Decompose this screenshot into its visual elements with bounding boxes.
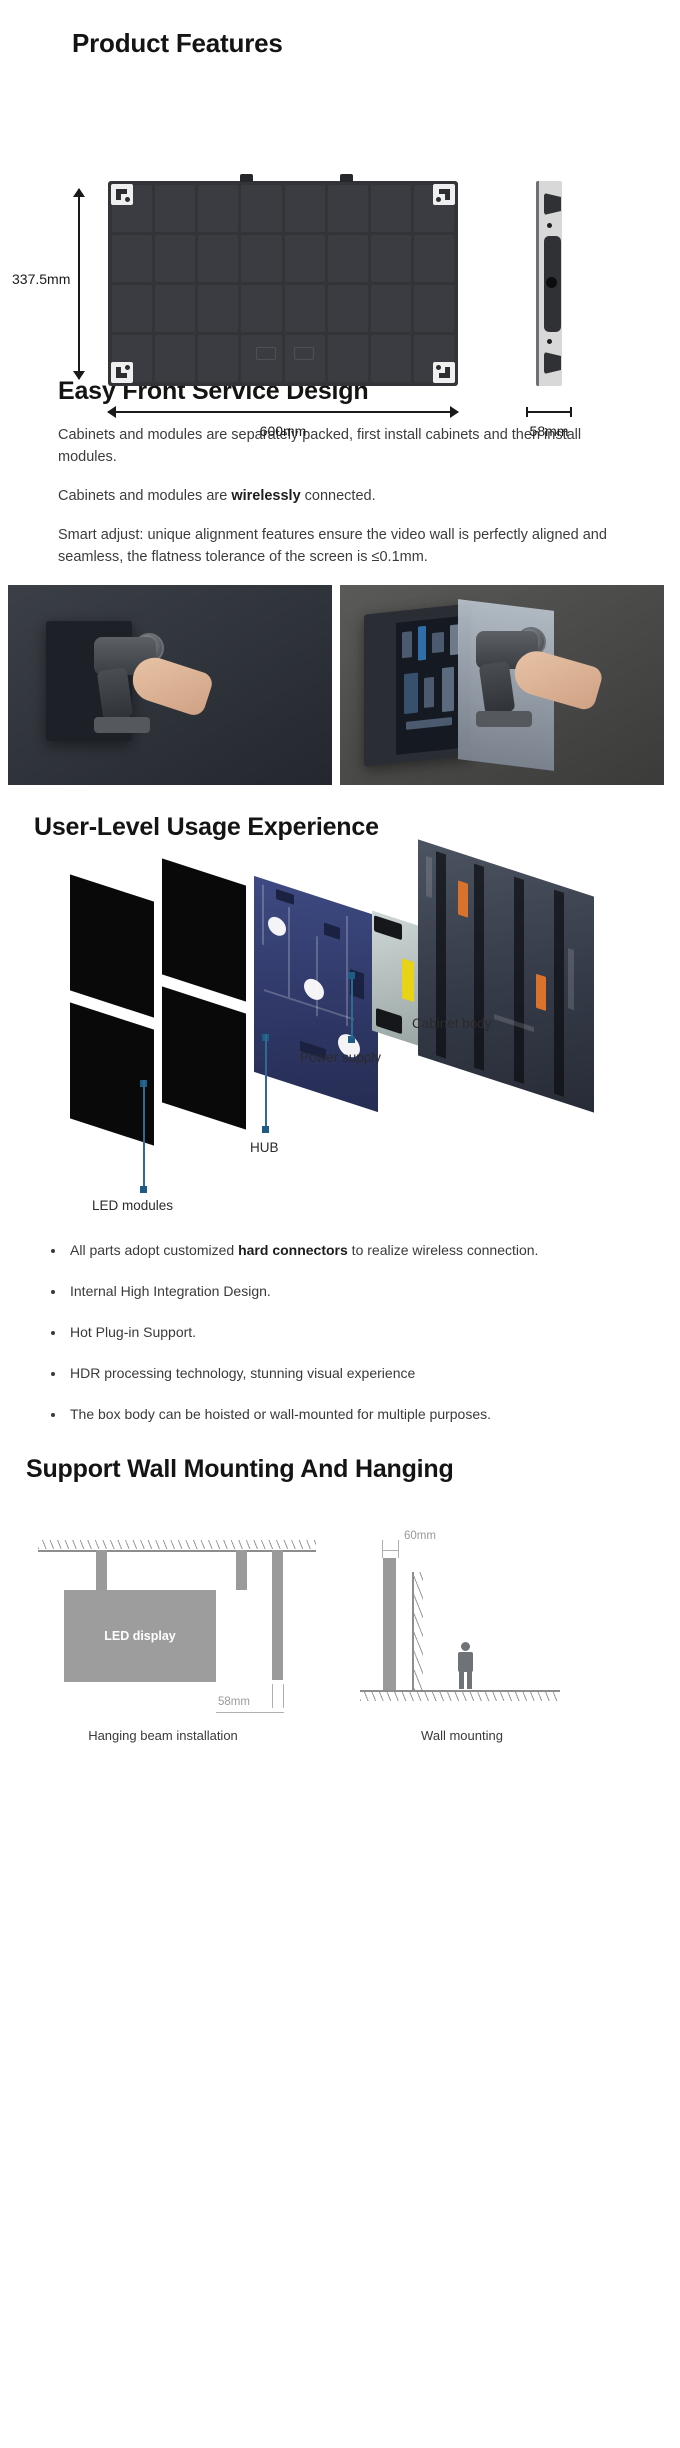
corner-lock-icon bbox=[111, 184, 133, 205]
cabinet-side-view bbox=[536, 181, 562, 386]
callout-line bbox=[143, 1080, 145, 1190]
section-wall-mounting: Support Wall Mounting And Hanging LED di… bbox=[0, 1445, 680, 1772]
photo-front-maintenance-open bbox=[340, 585, 664, 785]
caption-hanging-beam: Hanging beam installation bbox=[48, 1728, 278, 1743]
corner-lock-icon bbox=[433, 184, 455, 205]
side-bracket-icon bbox=[544, 193, 561, 215]
side-bracket-icon bbox=[544, 352, 561, 374]
port-icon bbox=[294, 347, 314, 360]
bullet-text: HDR processing technology, stunning visu… bbox=[70, 1365, 415, 1381]
module-cell bbox=[155, 185, 195, 232]
module-cell bbox=[155, 335, 195, 382]
hub-board bbox=[254, 876, 378, 1112]
hanging-rod bbox=[236, 1550, 247, 1590]
paragraph-text: Smart adjust: unique alignment features … bbox=[58, 527, 607, 565]
corner-lock-icon bbox=[111, 362, 133, 383]
depth-dimension-label: 58mm bbox=[512, 423, 586, 439]
exploded-view-diagram: LED modules HUB Power supply Cabinet bod… bbox=[0, 858, 680, 1218]
bullet-text: Hot Plug-in Support. bbox=[70, 1324, 196, 1340]
module-cell bbox=[198, 285, 238, 332]
top-knob-icon bbox=[340, 174, 353, 182]
side-handle-icon bbox=[546, 277, 557, 288]
callout-node bbox=[348, 972, 355, 979]
module-cell bbox=[198, 335, 238, 382]
feature-bullet-list: All parts adopt customized hard connecto… bbox=[44, 1240, 624, 1425]
led-module bbox=[162, 987, 246, 1130]
section-product-features: Product Features 337.5mm bbox=[0, 0, 680, 371]
ceiling-hatch bbox=[38, 1540, 316, 1549]
list-item: The box body can be hoisted or wall-moun… bbox=[66, 1404, 624, 1425]
corner-lock-icon bbox=[433, 362, 455, 383]
paragraph-text: Cabinets and modules are bbox=[58, 488, 231, 504]
width-dimension-label: 600mm bbox=[108, 423, 458, 439]
person-silhouette bbox=[452, 1642, 478, 1690]
port-icon bbox=[256, 347, 276, 360]
callout-label-cabinet-body: Cabinet body bbox=[412, 1016, 492, 1031]
list-item: Internal High Integration Design. bbox=[66, 1281, 624, 1302]
mounting-diagrams: LED display 58mm Hanging beam installati… bbox=[0, 1506, 680, 1746]
module-cell bbox=[198, 235, 238, 282]
wall-line bbox=[412, 1572, 414, 1690]
led-display-block: LED display bbox=[64, 1590, 216, 1682]
page-title: Product Features bbox=[72, 28, 680, 59]
wall-hatch bbox=[414, 1572, 423, 1690]
module-cell bbox=[371, 235, 411, 282]
paragraph: Smart adjust: unique alignment features … bbox=[58, 524, 618, 568]
module-cell bbox=[285, 185, 325, 232]
callout-node bbox=[262, 1126, 269, 1133]
dim-leader bbox=[283, 1684, 284, 1708]
paragraph-bold: wirelessly bbox=[231, 488, 300, 504]
service-description: Cabinets and modules are separately pack… bbox=[58, 424, 618, 568]
paragraph: Cabinets and modules are wirelessly conn… bbox=[58, 485, 618, 507]
module-cell bbox=[328, 335, 368, 382]
module-cell bbox=[155, 285, 195, 332]
list-item: Hot Plug-in Support. bbox=[66, 1322, 624, 1343]
list-item: All parts adopt customized hard connecto… bbox=[66, 1240, 624, 1261]
service-photos bbox=[0, 585, 680, 785]
cabinet-body bbox=[418, 840, 594, 1113]
led-module bbox=[70, 875, 154, 1018]
floor-hatch bbox=[360, 1692, 560, 1701]
dim-leader bbox=[382, 1550, 399, 1551]
dim-leader bbox=[398, 1540, 399, 1558]
module-cell bbox=[414, 285, 454, 332]
cabinet-front-view bbox=[108, 181, 458, 386]
product-page: Product Features 337.5mm bbox=[0, 0, 680, 1772]
bullet-bold: hard connectors bbox=[238, 1242, 348, 1258]
psu-label bbox=[402, 958, 414, 1002]
callout-label-hub: HUB bbox=[250, 1140, 279, 1155]
tool-base-icon bbox=[476, 711, 532, 727]
module-cell bbox=[328, 185, 368, 232]
beam-depth-dimension: 58mm bbox=[218, 1696, 250, 1708]
module-cell bbox=[328, 235, 368, 282]
module-cell bbox=[198, 185, 238, 232]
module-cell bbox=[371, 335, 411, 382]
module-cell bbox=[155, 235, 195, 282]
module-cell bbox=[328, 285, 368, 332]
top-knob-icon bbox=[240, 174, 253, 182]
width-dimension-arrow bbox=[108, 411, 458, 413]
hand bbox=[127, 652, 215, 718]
callout-label-power-supply: Power supply bbox=[300, 1050, 381, 1065]
led-display-label: LED display bbox=[104, 1629, 176, 1643]
callout-label-led-modules: LED modules bbox=[92, 1198, 173, 1213]
module-cell bbox=[371, 185, 411, 232]
module-cell bbox=[285, 285, 325, 332]
module-cell bbox=[371, 285, 411, 332]
dim-leader bbox=[272, 1684, 273, 1708]
module-cell bbox=[241, 285, 281, 332]
led-module bbox=[70, 1003, 154, 1146]
depth-dimension-arrow bbox=[526, 411, 572, 413]
section-heading: User-Level Usage Experience bbox=[34, 813, 680, 842]
side-screw-icon bbox=[547, 223, 552, 228]
bullet-tail: to realize wireless connection. bbox=[348, 1242, 539, 1258]
dim-leader bbox=[216, 1712, 284, 1713]
callout-line bbox=[351, 976, 353, 1038]
section-usage-experience: User-Level Usage Experience bbox=[0, 785, 680, 1425]
module-grid bbox=[112, 185, 454, 382]
wall-mount-panel bbox=[383, 1558, 396, 1690]
paragraph-tail: connected. bbox=[301, 488, 376, 504]
module-cell bbox=[241, 185, 281, 232]
section-heading: Support Wall Mounting And Hanging bbox=[26, 1455, 680, 1484]
caption-wall-mounting: Wall mounting bbox=[362, 1728, 562, 1743]
floor-line bbox=[360, 1690, 560, 1692]
side-screw-icon bbox=[547, 339, 552, 344]
bullet-text: Internal High Integration Design. bbox=[70, 1283, 271, 1299]
module-cell bbox=[414, 235, 454, 282]
module-cell bbox=[241, 235, 281, 282]
bullet-text: The box body can be hoisted or wall-moun… bbox=[70, 1406, 491, 1422]
cabinet-dimension-diagram: 337.5mm bbox=[0, 81, 680, 371]
module-cell bbox=[112, 285, 152, 332]
dim-leader bbox=[382, 1540, 383, 1558]
list-item: HDR processing technology, stunning visu… bbox=[66, 1363, 624, 1384]
callout-line bbox=[265, 1034, 267, 1130]
module-cell bbox=[285, 235, 325, 282]
hanging-rod bbox=[96, 1550, 107, 1590]
led-module bbox=[162, 859, 246, 1002]
hanging-rod-side bbox=[272, 1550, 283, 1680]
height-dimension-label: 337.5mm bbox=[12, 271, 70, 287]
bullet-text: All parts adopt customized bbox=[70, 1242, 238, 1258]
wall-gap-dimension: 60mm bbox=[404, 1530, 436, 1542]
tool-base-icon bbox=[94, 717, 150, 733]
height-dimension-arrow bbox=[78, 189, 80, 379]
module-cell bbox=[112, 235, 152, 282]
callout-node bbox=[140, 1186, 147, 1193]
photo-front-maintenance-closed bbox=[8, 585, 332, 785]
